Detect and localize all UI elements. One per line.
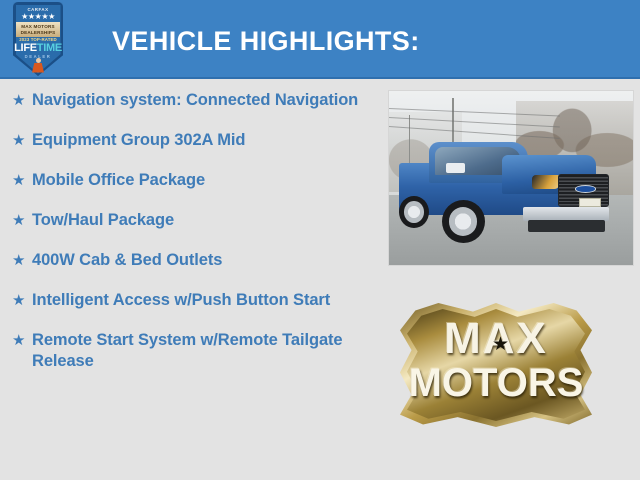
figure-body bbox=[32, 63, 44, 73]
star-bullet-icon: ★ bbox=[10, 90, 32, 111]
highlights-list: ★ Navigation system: Connected Navigatio… bbox=[10, 90, 380, 391]
truck-lower-fascia bbox=[528, 220, 605, 233]
star-bullet-icon: ★ bbox=[10, 330, 32, 351]
mechanic-figure-icon bbox=[32, 58, 44, 73]
star-bullet-icon: ★ bbox=[10, 170, 32, 191]
badge-lifetime-label: LIFETIME bbox=[13, 42, 63, 54]
highlight-label: Equipment Group 302A Mid bbox=[32, 130, 380, 151]
list-item: ★ Equipment Group 302A Mid bbox=[10, 130, 380, 151]
ford-f150-truck bbox=[399, 140, 614, 248]
truck-wheel-rim bbox=[449, 207, 477, 235]
highlight-label: Remote Start System w/Remote Tailgate Re… bbox=[32, 330, 380, 372]
highlight-label: Mobile Office Package bbox=[32, 170, 380, 191]
highlight-label: 400W Cab & Bed Outlets bbox=[32, 250, 380, 271]
highlight-label: Tow/Haul Package bbox=[32, 210, 380, 231]
logo-text-motors: MOTORS bbox=[400, 363, 592, 403]
badge-lifetime-tail: TIME bbox=[37, 42, 62, 54]
truck-side-mirror bbox=[446, 163, 465, 173]
page-title: VEHICLE HIGHLIGHTS: bbox=[112, 26, 420, 57]
highlight-label: Intelligent Access w/Push Button Start bbox=[32, 290, 380, 311]
header-bar: CARFAX ★★★★★ MAX MOTORS DEALERSHIPS 2023… bbox=[0, 0, 640, 79]
list-item: ★ Mobile Office Package bbox=[10, 170, 380, 191]
vehicle-highlights-slide: CARFAX ★★★★★ MAX MOTORS DEALERSHIPS 2023… bbox=[0, 0, 640, 480]
truck-front-wheel bbox=[442, 200, 485, 243]
star-bullet-icon: ★ bbox=[10, 130, 32, 151]
carfax-top-rated-dealer-badge: CARFAX ★★★★★ MAX MOTORS DEALERSHIPS 2023… bbox=[13, 2, 63, 76]
badge-gold-band: MAX MOTORS DEALERSHIPS bbox=[16, 22, 60, 37]
highlight-label: Navigation system: Connected Navigation bbox=[32, 90, 380, 111]
list-item: ★ Remote Start System w/Remote Tailgate … bbox=[10, 330, 380, 372]
figure-head bbox=[36, 58, 41, 63]
truck-rear-wheel bbox=[399, 196, 429, 228]
logo-star-icon: ★ bbox=[492, 335, 509, 354]
badge-dealer-name-line2: DEALERSHIPS bbox=[16, 30, 60, 35]
list-item: ★ Navigation system: Connected Navigatio… bbox=[10, 90, 380, 111]
vehicle-photo bbox=[388, 90, 634, 266]
truck-license-plate bbox=[579, 198, 600, 207]
star-bullet-icon: ★ bbox=[10, 250, 32, 271]
truck-front-bumper bbox=[523, 207, 609, 221]
badge-lifetime-main: LIFE bbox=[14, 42, 37, 54]
ford-oval-emblem bbox=[575, 185, 596, 193]
list-item: ★ 400W Cab & Bed Outlets bbox=[10, 250, 380, 271]
star-bullet-icon: ★ bbox=[10, 290, 32, 311]
five-stars-icon: ★★★★★ bbox=[13, 12, 63, 21]
list-item: ★ Tow/Haul Package bbox=[10, 210, 380, 231]
truck-wheel-rim bbox=[404, 201, 424, 222]
truck-headlight bbox=[532, 175, 560, 189]
list-item: ★ Intelligent Access w/Push Button Start bbox=[10, 290, 380, 311]
star-bullet-icon: ★ bbox=[10, 210, 32, 231]
max-motors-logo: MAX ★ MOTORS bbox=[400, 303, 592, 427]
badge-dealer-name-line1: MAX MOTORS bbox=[16, 24, 60, 29]
